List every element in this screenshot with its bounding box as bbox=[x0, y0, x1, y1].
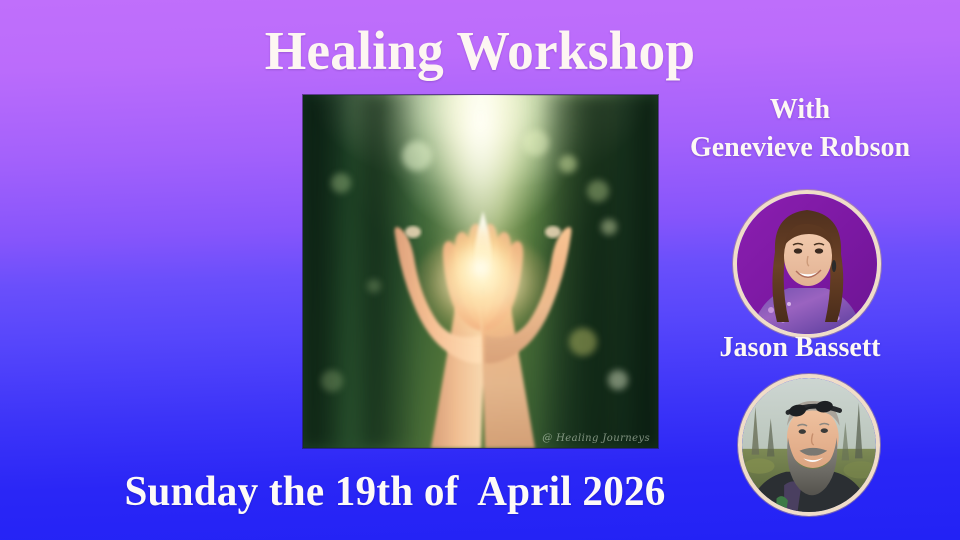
with-label: With bbox=[640, 96, 960, 124]
healing-workshop-poster: Healing Workshop bbox=[0, 0, 960, 540]
avatar-genevieve-robson bbox=[733, 190, 881, 338]
event-date: Sunday the 19th of April 2026 bbox=[8, 468, 782, 516]
image-watermark: @ Healing Journeys bbox=[542, 433, 650, 444]
avatar-image-1 bbox=[737, 194, 877, 334]
presenter-name-1: Genevieve Robson bbox=[640, 134, 960, 162]
light-orb bbox=[449, 229, 513, 307]
hero-image: @ Healing Journeys bbox=[303, 95, 658, 448]
page-title: Healing Workshop bbox=[14, 22, 945, 80]
presenter-name-2: Jason Bassett bbox=[640, 334, 960, 362]
